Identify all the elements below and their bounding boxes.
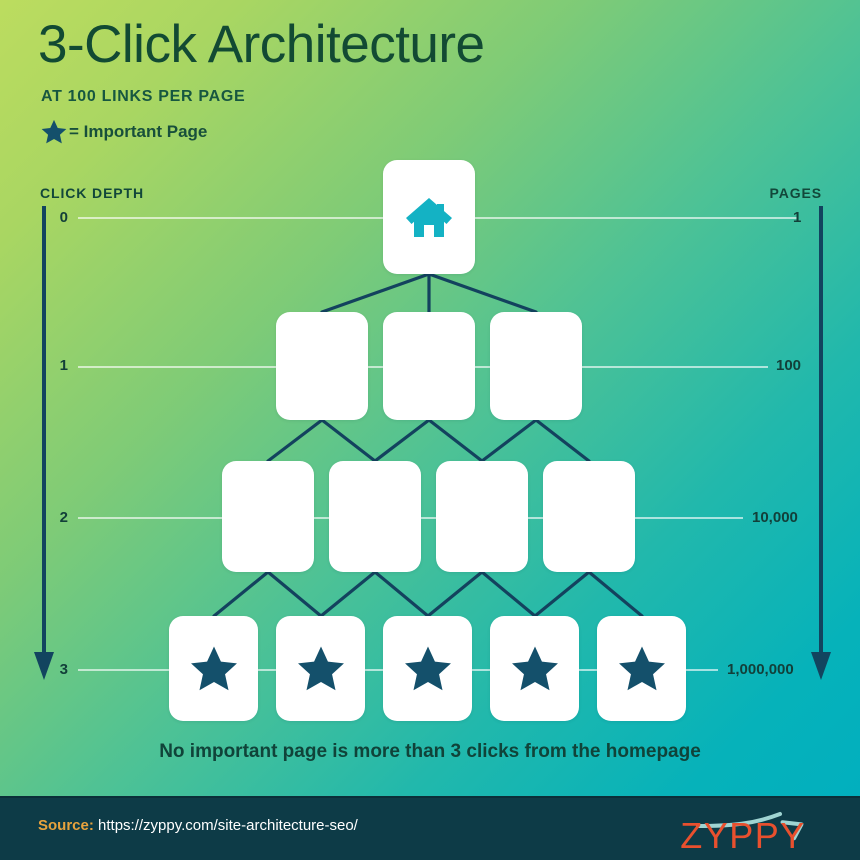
node-home[interactable] (383, 160, 475, 274)
footer-divider (0, 796, 860, 798)
source-url[interactable]: https://zyppy.com/site-architecture-seo/ (98, 817, 358, 834)
connector-lines (0, 0, 860, 860)
node-depth2-2[interactable] (329, 461, 421, 572)
footer: Source: https://zyppy.com/site-architect… (0, 796, 860, 860)
home-icon (404, 195, 454, 240)
star-icon (295, 643, 347, 695)
zyppy-logo-text: ZYPPY (680, 815, 806, 854)
infographic-canvas: 3-Click Architecture AT 100 LINKS PER PA… (0, 0, 860, 860)
source-line: Source: https://zyppy.com/site-architect… (38, 817, 358, 834)
node-depth2-3[interactable] (436, 461, 528, 572)
node-depth3-3[interactable] (383, 616, 472, 721)
node-depth3-4[interactable] (490, 616, 579, 721)
caption: No important page is more than 3 clicks … (0, 741, 860, 763)
star-icon (188, 643, 240, 695)
source-label: Source: (38, 817, 94, 834)
zyppy-logo[interactable]: ZYPPY (658, 802, 828, 854)
node-depth2-4[interactable] (543, 461, 635, 572)
node-depth1-3[interactable] (490, 312, 582, 420)
node-depth1-1[interactable] (276, 312, 368, 420)
star-icon (616, 643, 668, 695)
node-depth2-1[interactable] (222, 461, 314, 572)
star-icon (402, 643, 454, 695)
star-icon (509, 643, 561, 695)
node-depth3-1[interactable] (169, 616, 258, 721)
node-depth3-5[interactable] (597, 616, 686, 721)
node-depth1-2[interactable] (383, 312, 475, 420)
node-depth3-2[interactable] (276, 616, 365, 721)
